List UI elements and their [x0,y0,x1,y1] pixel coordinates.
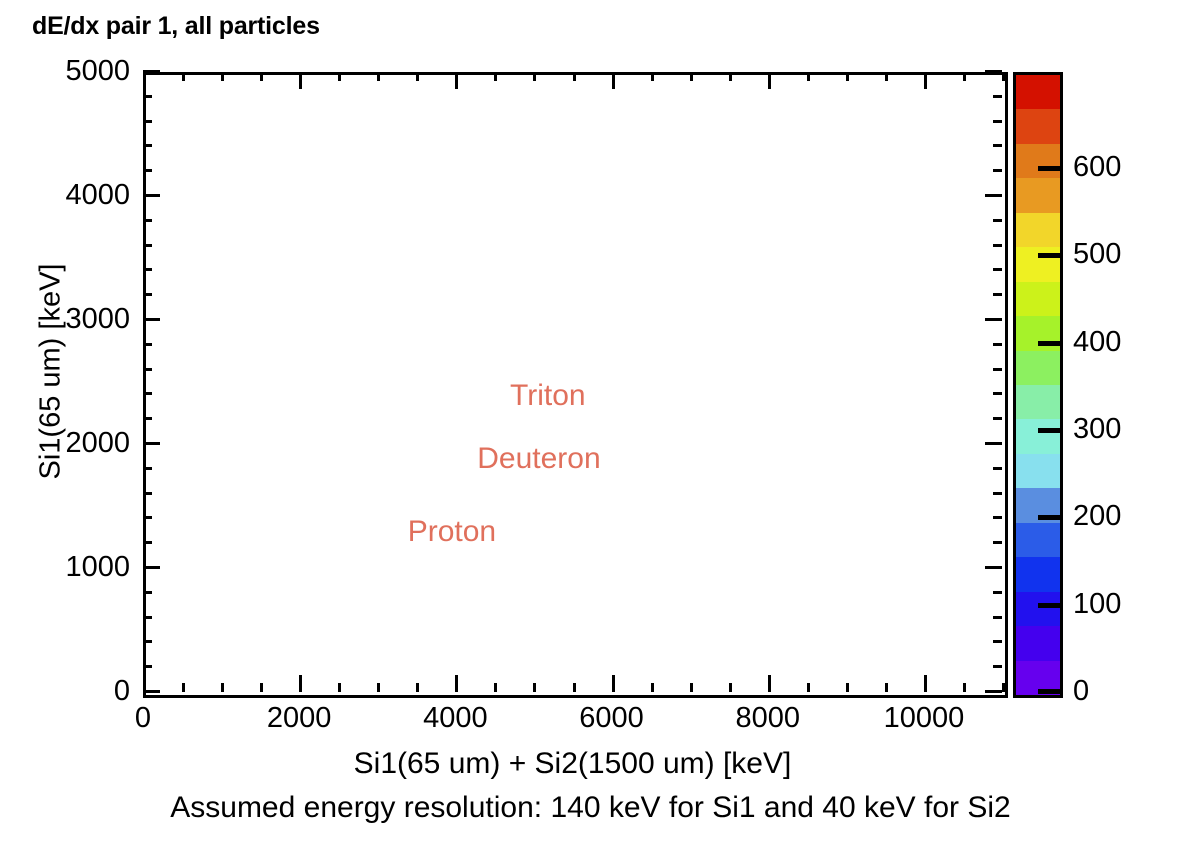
colorbar-tick-label: 400 [1073,328,1121,357]
colorbar-tick [1038,428,1060,433]
colorbar-tick [1038,253,1060,258]
colorbar-ticks-and-labels: 0100200300400500600 [0,0,1181,847]
colorbar-tick-label: 100 [1073,590,1121,619]
plot-canvas-root: dE/dx pair 1, all particles 010002000300… [0,0,1181,847]
colorbar-tick-label: 300 [1073,415,1121,444]
colorbar-tick-label: 600 [1073,153,1121,182]
colorbar-tick [1038,689,1060,694]
colorbar-tick-label: 0 [1073,677,1089,706]
colorbar-tick [1038,341,1060,346]
colorbar-tick-label: 500 [1073,240,1121,269]
colorbar-tick [1038,166,1060,171]
colorbar-tick [1038,603,1060,608]
colorbar-tick-label: 200 [1073,502,1121,531]
colorbar-tick [1038,515,1060,520]
